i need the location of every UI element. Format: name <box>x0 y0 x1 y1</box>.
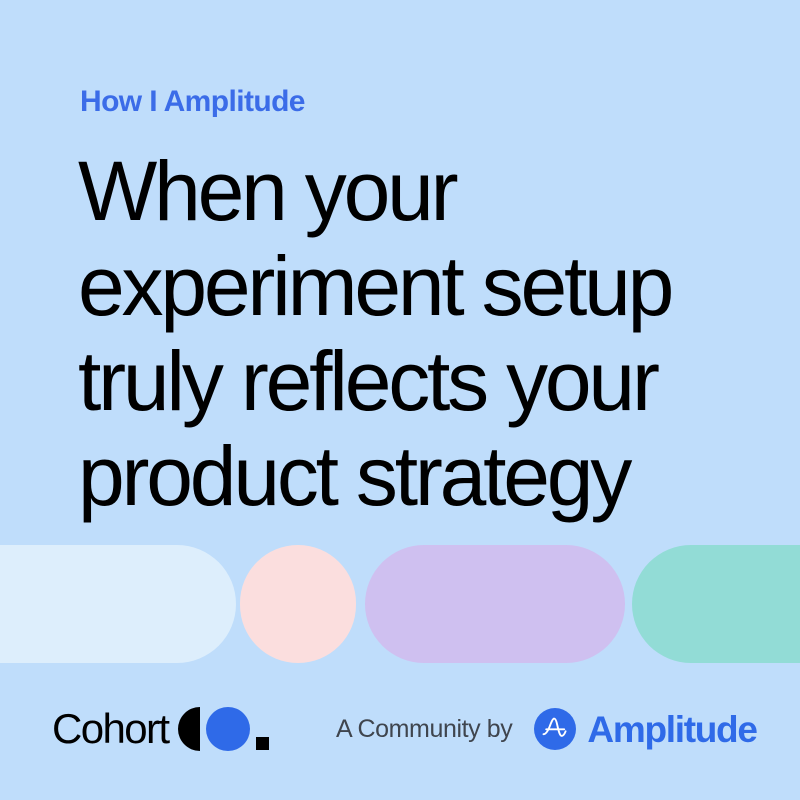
headline-line-1: When your <box>78 144 758 239</box>
headline: When your experiment setup truly reflect… <box>78 144 758 524</box>
pill-purple <box>365 545 625 663</box>
community-by-label: A Community by <box>336 715 512 744</box>
pill-teal <box>632 545 800 663</box>
cohort-period-icon <box>256 737 269 750</box>
social-card: How I Amplitude When your experiment set… <box>0 0 800 800</box>
cohort-circle-icon <box>206 707 250 751</box>
series-eyebrow-label: How I Amplitude <box>80 85 305 119</box>
headline-line-4: product strategy <box>78 429 758 524</box>
pill-pale-blue <box>0 545 236 663</box>
cohort-logo-lockup: Cohort <box>52 700 269 758</box>
headline-line-2: experiment setup <box>78 239 758 334</box>
footer-branding: Cohort A Community by Amplitude <box>0 700 800 760</box>
amplitude-wordmark: Amplitude <box>587 711 756 748</box>
pill-pink <box>240 545 356 663</box>
cohort-mark-icon <box>178 707 269 751</box>
amplitude-logo-lockup: Amplitude <box>534 708 756 750</box>
amplitude-logo-icon <box>534 708 576 750</box>
cohort-wordmark: Cohort <box>52 708 168 750</box>
cohort-half-disc-icon <box>178 707 200 751</box>
decorative-pill-band <box>0 545 800 663</box>
community-by-lockup: A Community by Amplitude <box>336 700 757 758</box>
headline-line-3: truly reflects your <box>78 334 758 429</box>
